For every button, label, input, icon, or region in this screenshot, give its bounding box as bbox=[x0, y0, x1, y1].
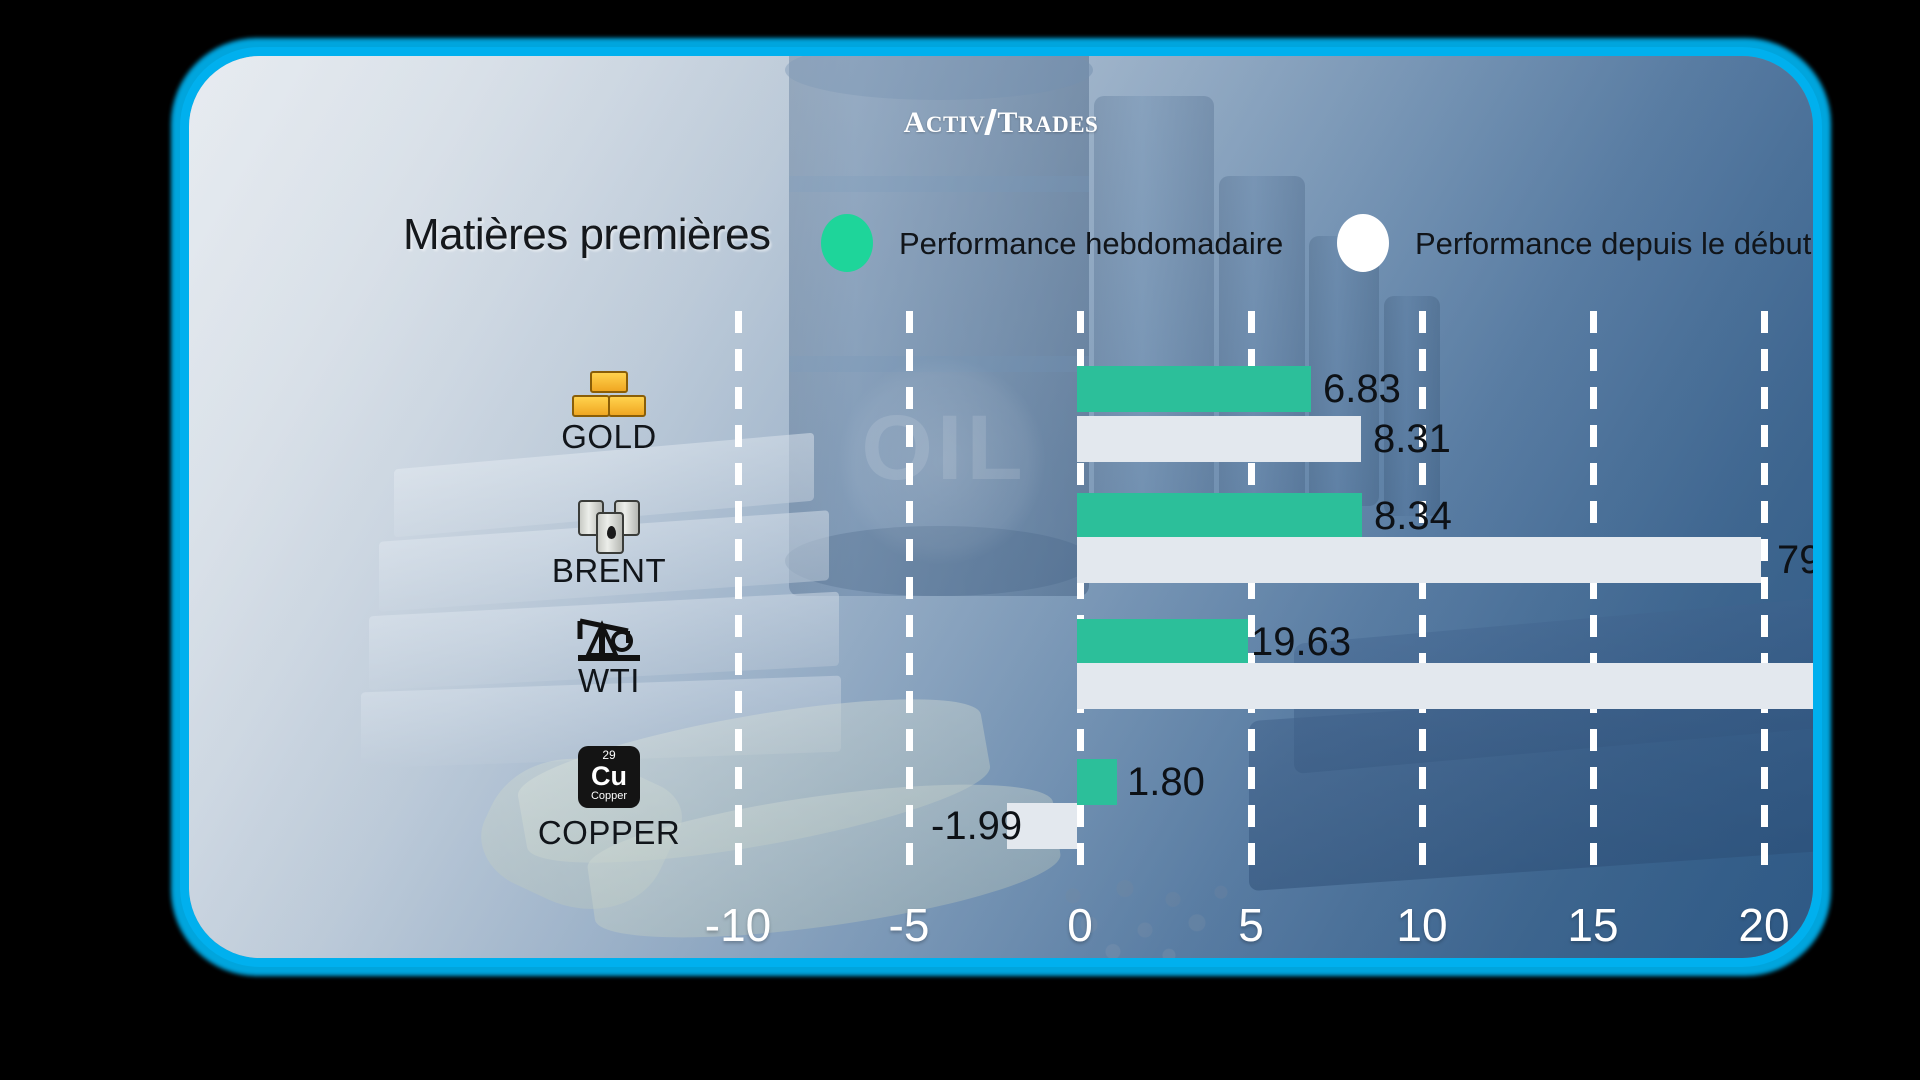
category-label-brent: BRENT bbox=[519, 552, 699, 590]
category-label-gold: GOLD bbox=[519, 418, 699, 456]
x-axis-title-text: % Performance en pourcentage bbox=[717, 964, 1225, 967]
bar-value-gold-weekly: 6.83 bbox=[1323, 366, 1401, 412]
gold-bars-icon bbox=[559, 371, 659, 419]
bar-value-copper-weekly: 1.80 bbox=[1127, 759, 1205, 805]
bar-value-brent-ytd: 79.15 bbox=[1777, 537, 1822, 583]
bar-value-copper-ytd: -1.99 bbox=[931, 803, 1022, 849]
pumpjack-svg bbox=[572, 609, 646, 665]
x-axis-title: % Performance en pourcentage bbox=[189, 964, 1813, 967]
bar-value-brent-weekly: 8.34 bbox=[1374, 493, 1452, 539]
bar-wti-weekly bbox=[1077, 619, 1248, 665]
copper-atomic-number: 29 bbox=[578, 746, 640, 762]
bar-copper-weekly bbox=[1077, 759, 1117, 805]
xtick-label: 5 bbox=[1238, 898, 1264, 952]
copper-element-icon: 29 Cu Copper bbox=[559, 746, 659, 808]
copper-symbol: Cu bbox=[578, 762, 640, 790]
bar-gold-weekly bbox=[1077, 366, 1311, 412]
gridline-10 bbox=[1419, 311, 1426, 881]
xtick-label: 15 bbox=[1567, 898, 1618, 952]
bar-value-gold-ytd: 8.31 bbox=[1373, 416, 1451, 462]
screenshot-root: OIL ACTIVTRADES Matières premières Perfo… bbox=[0, 0, 1920, 1080]
xtick-label: -10 bbox=[705, 898, 771, 952]
infographic-card: OIL ACTIVTRADES Matières premières Perfo… bbox=[180, 47, 1822, 967]
xtick-label: 0 bbox=[1067, 898, 1093, 952]
gridline--5 bbox=[906, 311, 913, 881]
oil-pumpjack-icon bbox=[559, 609, 659, 665]
bar-gold-ytd bbox=[1077, 416, 1361, 462]
oil-barrels-icon bbox=[559, 496, 659, 556]
chart-plot-area: -10 -5 0 5 10 15 20 % Performance en pou… bbox=[189, 56, 1813, 958]
copper-element-name: Copper bbox=[578, 790, 640, 802]
bar-value-wti-weekly: 19.63 bbox=[1251, 619, 1351, 665]
xtick-label: -5 bbox=[889, 898, 930, 952]
bar-brent-weekly bbox=[1077, 493, 1362, 539]
xtick-label: 10 bbox=[1396, 898, 1447, 952]
bar-brent-ytd bbox=[1077, 537, 1761, 583]
category-label-wti: WTI bbox=[519, 662, 699, 700]
gridline-15 bbox=[1590, 311, 1597, 881]
bar-wti-ytd bbox=[1077, 663, 1814, 709]
xtick-label: 20 bbox=[1738, 898, 1789, 952]
gridline--10 bbox=[735, 311, 742, 881]
category-label-copper: COPPER bbox=[519, 814, 699, 852]
gridline-20 bbox=[1761, 311, 1768, 881]
